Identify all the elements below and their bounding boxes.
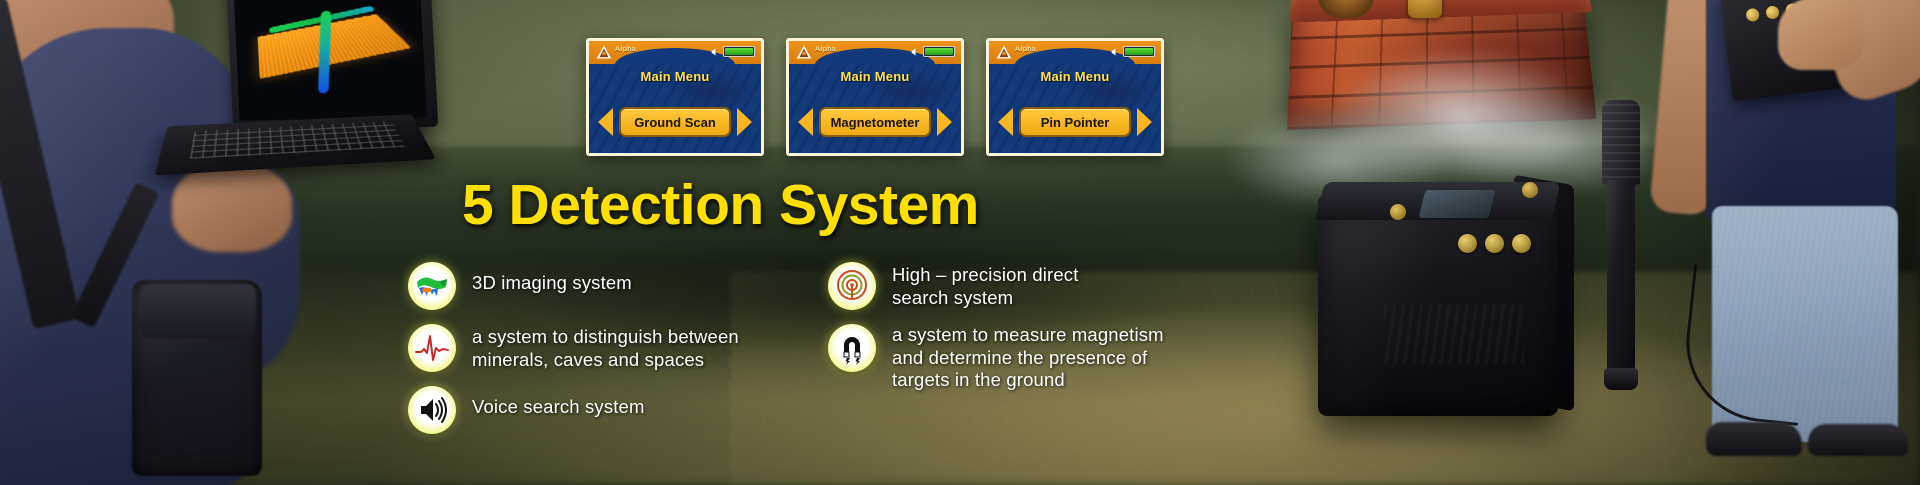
feature-label: Voice search system bbox=[472, 386, 645, 419]
laptop-base bbox=[155, 114, 436, 175]
panel-battery-indicator bbox=[911, 46, 955, 57]
feature-label-line2: and determine the presence of bbox=[892, 347, 1147, 368]
detector-latch-left bbox=[1390, 204, 1406, 220]
feature-item-3d-imaging: 3D imaging system bbox=[408, 262, 808, 310]
feature-label-line1: a system to measure magnetism bbox=[892, 324, 1164, 345]
panel-title: Main Menu bbox=[989, 69, 1161, 84]
waveform-pulse-icon bbox=[408, 324, 456, 372]
prev-arrow-icon[interactable] bbox=[798, 108, 813, 136]
feature-label: 3D imaging system bbox=[472, 262, 632, 295]
treasure-chest bbox=[1280, 0, 1610, 166]
feature-label-line1: High – precision direct bbox=[892, 264, 1078, 285]
next-arrow-icon[interactable] bbox=[1137, 108, 1152, 136]
panel-mode-button[interactable]: Ground Scan bbox=[619, 107, 731, 137]
panel-mode-selector[interactable]: Magnetometer bbox=[789, 107, 961, 137]
feature-item-high-precision-search: High – precision directsearch system bbox=[828, 262, 1248, 310]
device-menu-panels: Alpha Main Menu Ground Scan bbox=[586, 38, 1164, 156]
right-person-shoe-right bbox=[1808, 424, 1908, 456]
battery-shell bbox=[723, 46, 755, 57]
panel-brand-label: Alpha bbox=[1015, 46, 1036, 53]
feature-label: a system to distinguish betweenminerals,… bbox=[472, 324, 739, 371]
laptop-keyboard bbox=[190, 121, 405, 159]
battery-fill bbox=[925, 48, 953, 55]
detector-knobs bbox=[1458, 234, 1531, 253]
magnet-icon bbox=[828, 324, 876, 372]
detector-control-unit bbox=[1318, 176, 1588, 436]
panel-title: Main Menu bbox=[589, 69, 761, 84]
brand-logo-icon bbox=[795, 44, 813, 60]
prev-arrow-icon[interactable] bbox=[598, 108, 613, 136]
brand-logo-icon bbox=[595, 44, 613, 60]
next-arrow-icon[interactable] bbox=[737, 108, 752, 136]
signal-antenna-icon bbox=[828, 262, 876, 310]
panel-mode-button[interactable]: Magnetometer bbox=[819, 107, 931, 137]
feature-label: a system to measure magnetismand determi… bbox=[892, 324, 1164, 392]
feature-label-line3: targets in the ground bbox=[892, 369, 1065, 390]
device-panel-magnetometer[interactable]: Alpha Main Menu Magnetometer bbox=[786, 38, 964, 156]
laptop-lid bbox=[226, 0, 438, 129]
panel-brand-label: Alpha bbox=[615, 46, 636, 53]
detector-display bbox=[1419, 190, 1496, 218]
speaker-volume-icon bbox=[408, 386, 456, 434]
detector-body bbox=[1318, 194, 1558, 416]
panel-title: Main Menu bbox=[789, 69, 961, 84]
probe-tip bbox=[1604, 368, 1638, 390]
detector-embossed-logo bbox=[1384, 304, 1524, 364]
panel-mode-button[interactable]: Pin Pointer bbox=[1019, 107, 1131, 137]
banner-headline: 5 Detection System bbox=[462, 172, 979, 238]
feature-item-mineral-discrimination: a system to distinguish betweenminerals,… bbox=[408, 324, 808, 372]
device-panel-ground-scan[interactable]: Alpha Main Menu Ground Scan bbox=[586, 38, 764, 156]
next-arrow-icon[interactable] bbox=[937, 108, 952, 136]
right-person-hand bbox=[1778, 0, 1864, 70]
speaker-icon bbox=[711, 47, 720, 57]
product-banner: Alpha Main Menu Ground Scan bbox=[0, 0, 1920, 485]
feature-label-line1: a system to distinguish between bbox=[472, 326, 739, 347]
search-probe-rod bbox=[1598, 100, 1644, 400]
right-person-shoe-left bbox=[1706, 422, 1802, 456]
speaker-icon bbox=[911, 47, 920, 57]
panel-mode-selector[interactable]: Ground Scan bbox=[589, 107, 761, 137]
prev-arrow-icon[interactable] bbox=[998, 108, 1013, 136]
detector-latch-right bbox=[1522, 182, 1538, 198]
speaker-icon bbox=[1111, 47, 1120, 57]
feature-list-left: 3D imaging system a system to distinguis… bbox=[408, 262, 808, 448]
battery-shell bbox=[1123, 46, 1155, 57]
scan-trench-vertical bbox=[318, 11, 331, 94]
battery-shell bbox=[923, 46, 955, 57]
laptop-screen bbox=[233, 0, 427, 120]
feature-item-voice-search: Voice search system bbox=[408, 386, 808, 434]
right-person-with-control-box bbox=[1650, 0, 1920, 485]
device-cable bbox=[1678, 264, 1813, 426]
device-panel-pin-pointer[interactable]: Alpha Main Menu Pin Pointer bbox=[986, 38, 1164, 156]
battery-fill bbox=[1125, 48, 1153, 55]
feature-item-magnetism-measure: a system to measure magnetismand determi… bbox=[828, 324, 1248, 392]
feature-label-line2: search system bbox=[892, 287, 1013, 308]
battery-fill bbox=[725, 48, 753, 55]
panel-mode-selector[interactable]: Pin Pointer bbox=[989, 107, 1161, 137]
panel-brand-label: Alpha bbox=[815, 46, 836, 53]
feature-list-right: High – precision directsearch system a s… bbox=[828, 262, 1248, 404]
chest-lock bbox=[1408, 0, 1442, 18]
brand-logo-icon bbox=[995, 44, 1013, 60]
panel-battery-indicator bbox=[711, 46, 755, 57]
feature-label-line2: minerals, caves and spaces bbox=[472, 349, 704, 370]
panel-battery-indicator bbox=[1111, 46, 1155, 57]
feature-label: High – precision directsearch system bbox=[892, 262, 1078, 309]
terrain-3d-icon bbox=[408, 262, 456, 310]
probe-shaft bbox=[1607, 180, 1635, 376]
laptop-device bbox=[148, 0, 448, 186]
equipment-bag-flap bbox=[140, 284, 256, 338]
probe-grip bbox=[1602, 100, 1640, 186]
